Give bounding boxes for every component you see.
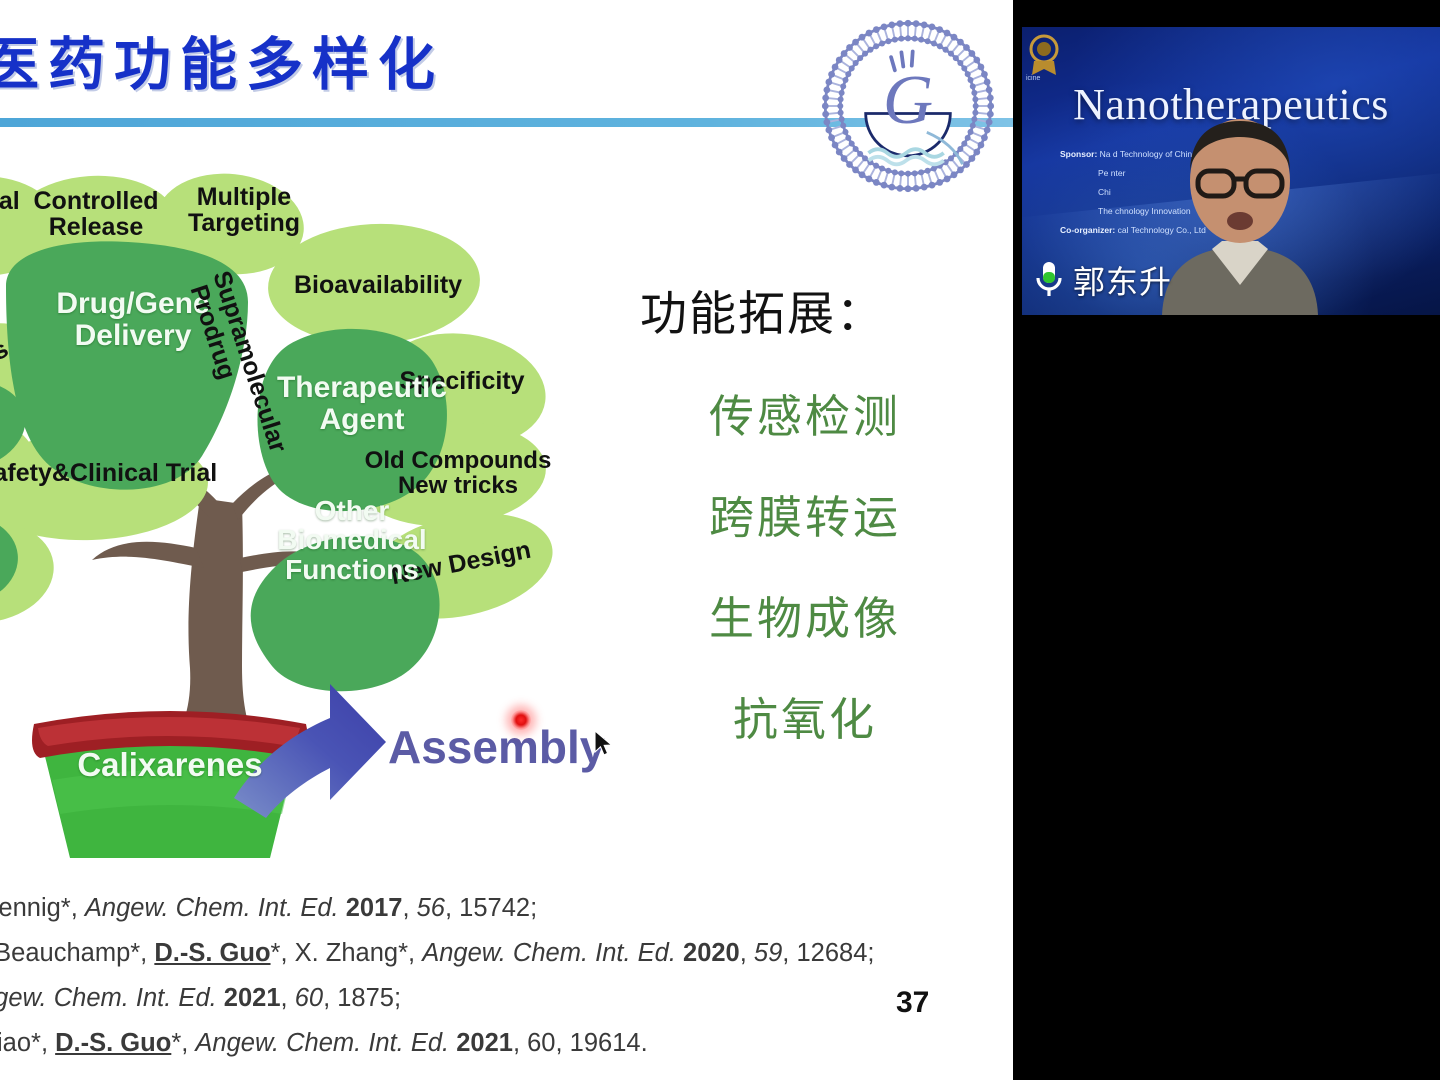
reference-line: Hennig*, Angew. Chem. Int. Ed. 2017, 56,…	[0, 886, 1000, 931]
assembly-label: Assembly	[388, 720, 605, 774]
institute-logo-icon: G	[812, 12, 1004, 200]
screen: 医药功能多样化 G	[0, 0, 1440, 1080]
slide-page-number: 37	[896, 986, 929, 1020]
reference-text-run: 2021	[456, 1029, 513, 1057]
function-item-bioimaging: 生物成像	[600, 582, 1010, 647]
reference-line: ngew. Chem. Int. Ed. 2021, 60, 1875;	[0, 976, 1000, 1021]
reference-line: Xiao*, D.-S. Guo*, Angew. Chem. Int. Ed.…	[0, 1021, 1000, 1066]
sponsor-line-key: Sponsor:	[1060, 149, 1100, 159]
microphone-active-icon	[1034, 260, 1064, 300]
functions-heading: 功能拓展：	[640, 275, 1010, 344]
reference-text-run: . Beauchamp*,	[0, 939, 154, 967]
function-item-transmembrane: 跨膜转运	[600, 481, 1010, 546]
reference-text-run: , 15742;	[445, 894, 537, 922]
slide-title: 医药功能多样化	[0, 24, 502, 106]
reference-text-run: , 12684;	[782, 939, 874, 967]
reference-text-run: , 1875;	[323, 984, 401, 1012]
function-item-antioxidation: 抗氧化	[600, 683, 1010, 748]
tree-diagram: onal y Controlled Release Multiple Targe…	[0, 168, 582, 858]
conference-emblem-icon	[1024, 31, 1064, 77]
reference-list: Hennig*, Angew. Chem. Int. Ed. 2017, 56,…	[0, 886, 1000, 1066]
functions-column: 功能拓展： 传感检测 跨膜转运 生物成像 抗氧化	[600, 275, 1010, 748]
slide-content: 医药功能多样化 G	[0, 0, 1013, 1080]
reference-text-run: 2020	[683, 939, 740, 967]
reference-text-run: ngew. Chem. Int. Ed.	[0, 984, 224, 1012]
laser-pointer-dot	[511, 710, 531, 730]
reference-text-run: 59	[754, 939, 782, 967]
reference-text-run: Angew. Chem. Int. Ed.	[85, 894, 346, 922]
participant-name-bar: 郭东升	[1034, 257, 1172, 303]
reference-text-run: Angew. Chem. Int. Ed.	[195, 1029, 456, 1057]
reference-text-run: D.-S. Guo	[55, 1029, 171, 1057]
meeting-side-panel: icine Nanotherapeutics Sponsor: Na d Tec…	[1013, 0, 1440, 1080]
reference-text-run: *, X. Zhang*,	[271, 939, 423, 967]
reference-text-run: *,	[171, 1029, 195, 1057]
reference-text-run: 2017	[346, 894, 403, 922]
participant-name: 郭东升	[1073, 257, 1172, 303]
reference-text-run: 56	[417, 894, 445, 922]
reference-line: . Beauchamp*, D.-S. Guo*, X. Zhang*, Ang…	[0, 931, 1000, 976]
reference-text-run: ,	[740, 939, 754, 967]
logo-letter: G	[883, 62, 933, 139]
mouse-cursor-icon	[594, 730, 616, 760]
reference-text-run: Hennig*,	[0, 894, 85, 922]
reference-text-run: Xiao*,	[0, 1029, 55, 1057]
reference-text-run: D.-S. Guo	[154, 939, 270, 967]
function-item-sensing: 传感检测	[600, 380, 1010, 445]
reference-text-run: 60	[295, 984, 323, 1012]
reference-text-run: , 60, 19614.	[513, 1029, 648, 1057]
reference-text-run: Angew. Chem. Int. Ed.	[422, 939, 683, 967]
reference-text-run: ,	[281, 984, 295, 1012]
sponsor-line-key: Co-organizer:	[1060, 225, 1118, 235]
reference-text-run: 2021	[224, 984, 281, 1012]
reference-text-run: ,	[402, 894, 416, 922]
participant-video-tile[interactable]: icine Nanotherapeutics Sponsor: Na d Tec…	[1022, 27, 1440, 315]
